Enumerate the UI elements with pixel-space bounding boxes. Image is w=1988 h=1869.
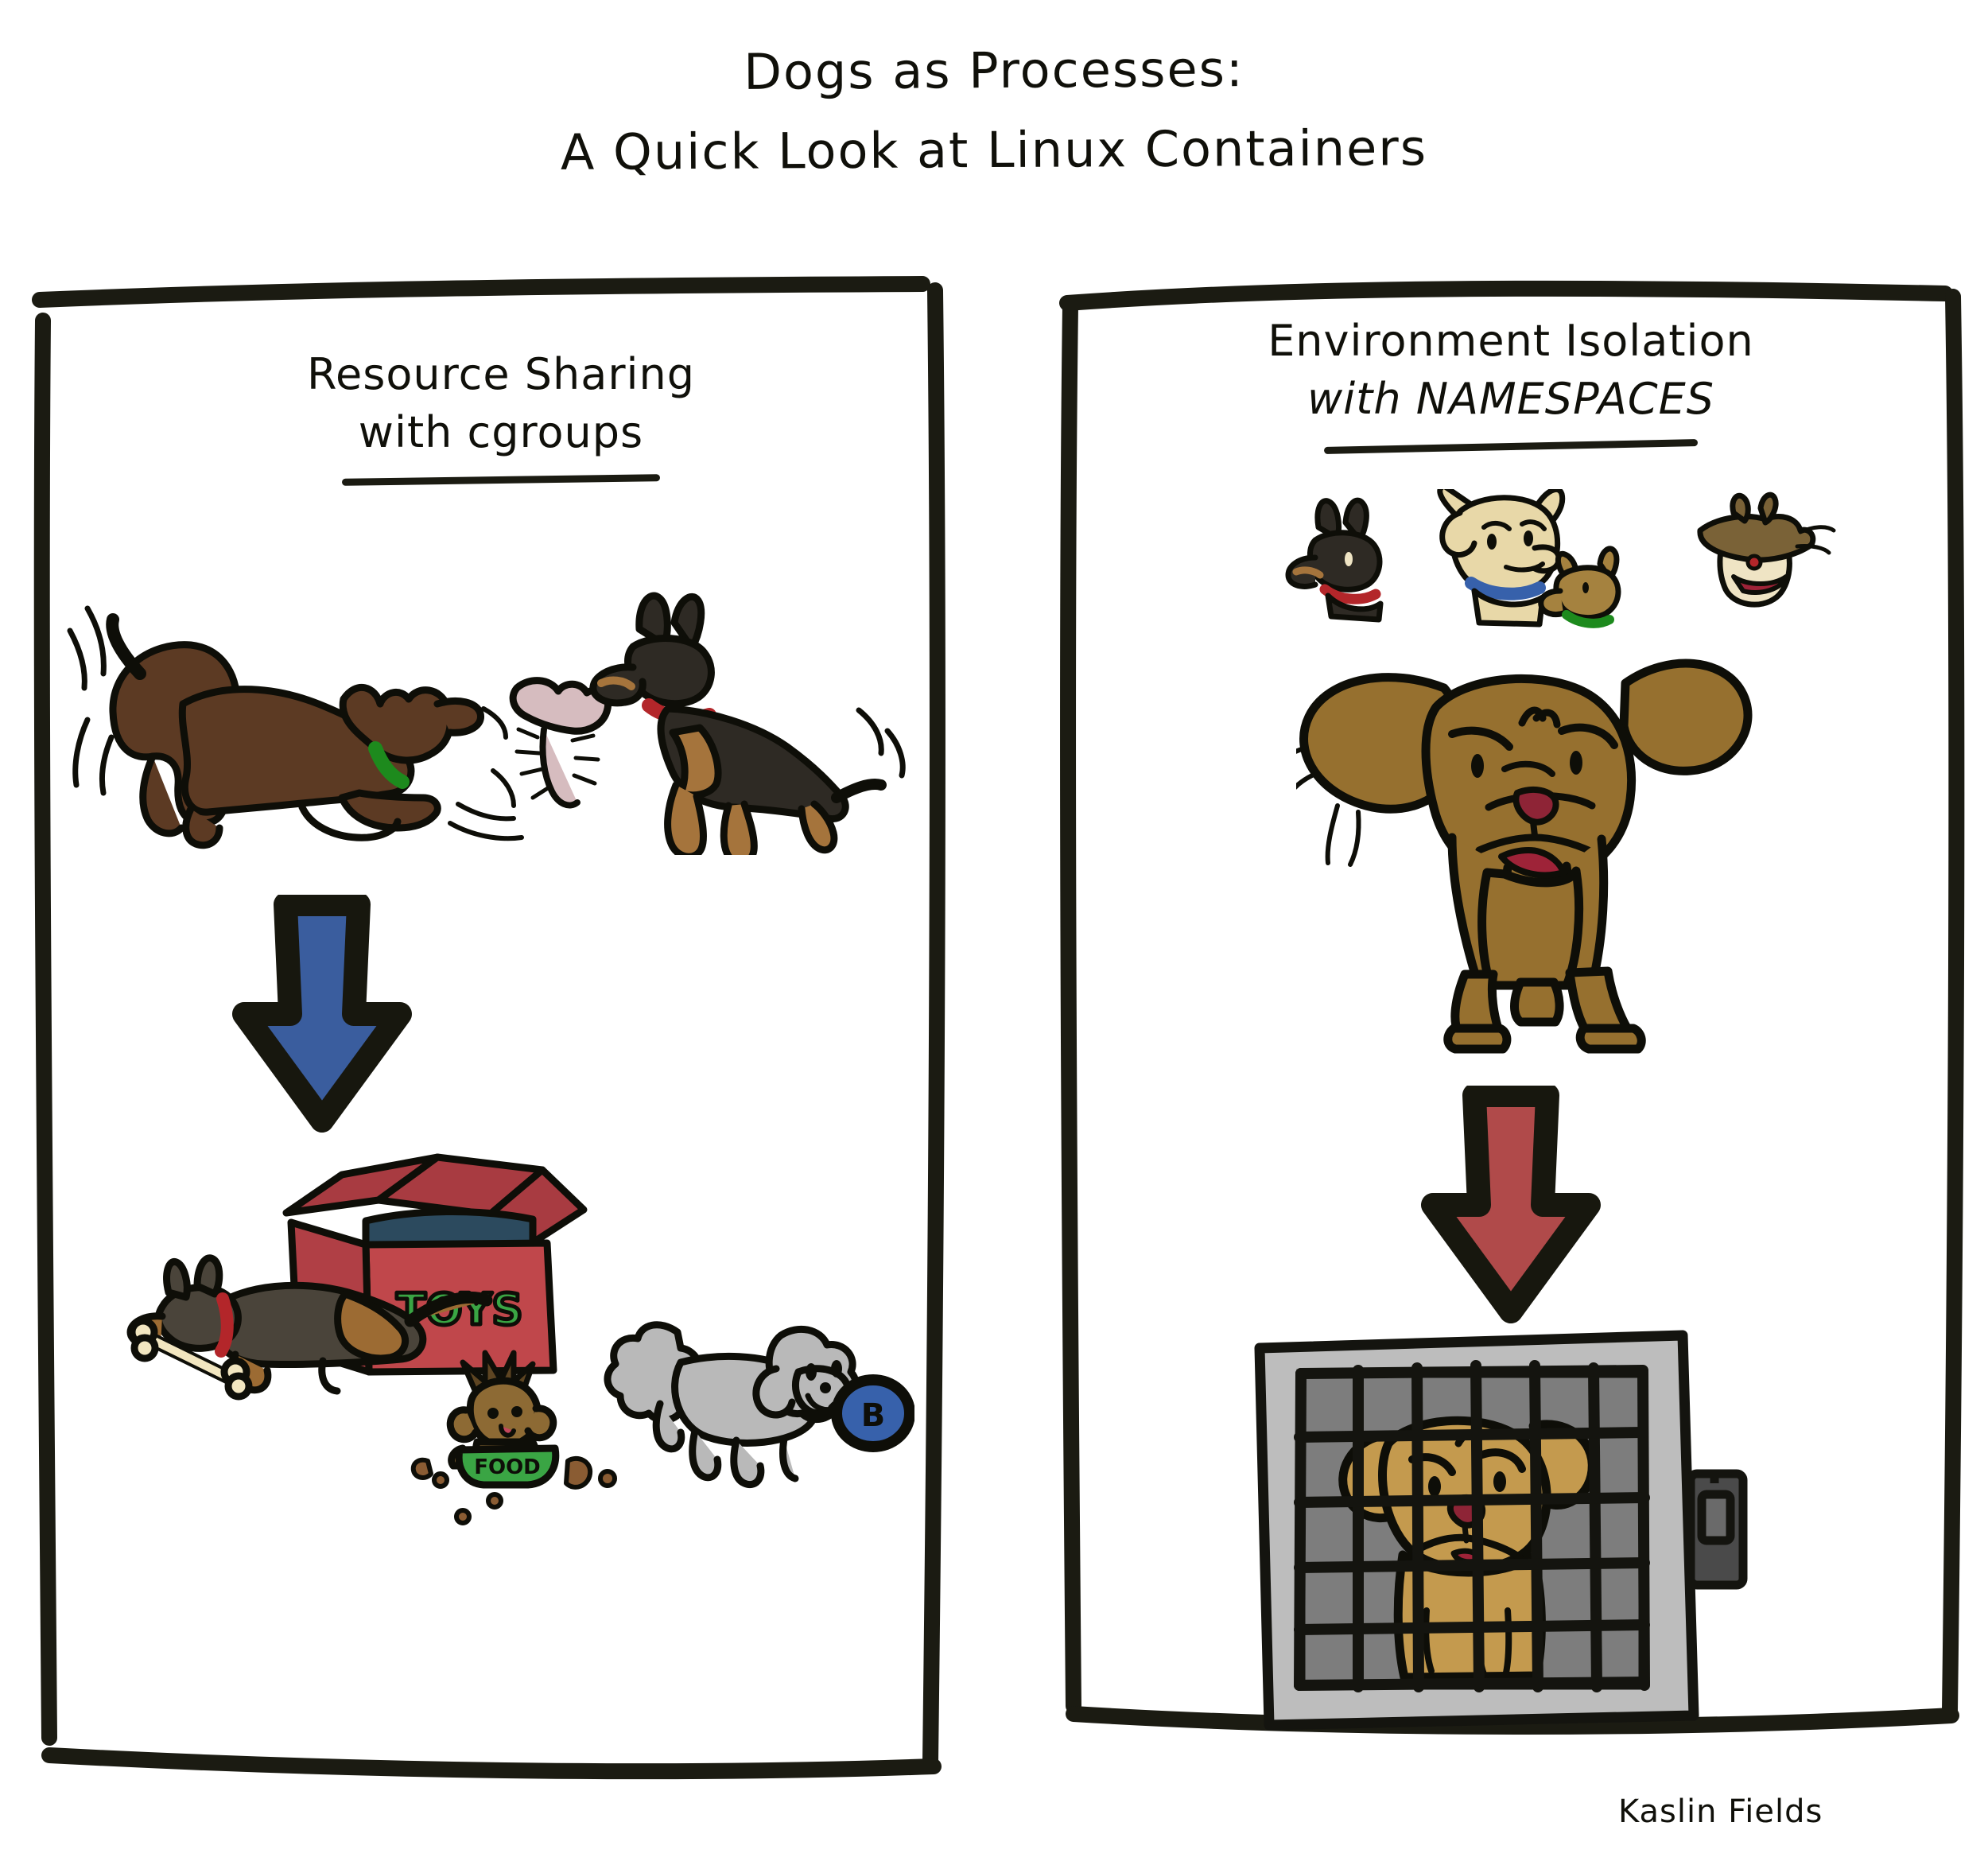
scene-grumpy-dog [1296,648,1789,1062]
blue-ball: B [837,1380,910,1447]
scene-dog-crate [1241,1324,1765,1738]
title-line-2: A Quick Look at Linux Containers [0,114,1988,186]
crate-latch [1691,1474,1743,1585]
arrow-down-red [1415,1086,1606,1324]
panel-environment-isolation: Environment Isolation with NAMESPACES [1058,282,1964,1738]
comic-title: Dogs as Processes: A Quick Look at Linux… [0,40,1988,181]
food-bowl-label: FOOD [474,1455,541,1479]
food-bowl: FOOD [459,1448,556,1485]
scene-dog-heads [1280,489,1837,632]
panel-resource-sharing: Resource Sharing with cgroups [32,282,970,1793]
arrow-down-blue [227,895,417,1133]
doberman-head [1288,500,1380,620]
scene-shared-resources: TOYS [103,1133,914,1626]
title-line-1: Dogs as Processes: [0,33,1988,107]
scene-tug-of-war [64,585,922,855]
shaggy-terrier-head [1700,495,1834,604]
artist-signature: Kaslin Fields [1618,1793,1823,1830]
grey-poodle [608,1325,856,1485]
blue-ball-label: B [861,1397,886,1434]
